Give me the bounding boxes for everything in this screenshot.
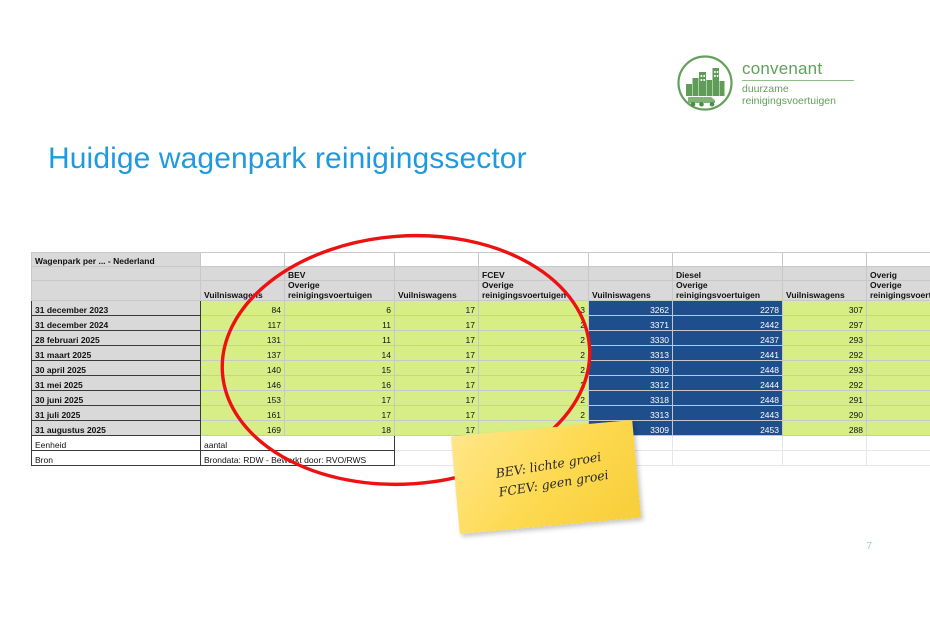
cell-overig-ov: 9 <box>867 331 930 346</box>
cell-diesel-vw: 3262 <box>589 301 673 316</box>
footer-value: Brondata: RDW - Bewerkt door: RVO/RWS <box>201 451 395 466</box>
cell-bev-vw: 169 <box>201 421 285 436</box>
cell-bev-vw: 131 <box>201 331 285 346</box>
table-subheader-row: Vuilniswagens Overigereinigingsvoertuige… <box>32 281 930 301</box>
cell-bev-ov: 11 <box>285 331 395 346</box>
cell-fcev-vw: 17 <box>395 316 479 331</box>
cell-bev-ov: 17 <box>285 406 395 421</box>
cell-diesel-ov: 2278 <box>673 301 783 316</box>
cell-bev-vw: 140 <box>201 361 285 376</box>
footer-empty-cell <box>783 436 867 451</box>
cell-overig-vw: 292 <box>783 346 867 361</box>
cell-overig-vw: 297 <box>783 316 867 331</box>
table-row: 31 december 2023846173326222783078 <box>32 301 930 316</box>
row-date-label: 30 juni 2025 <box>32 391 201 406</box>
cell-fcev-vw: 17 <box>395 361 479 376</box>
cell-overig-ov: 8 <box>867 301 930 316</box>
row-date-label: 31 mei 2025 <box>32 376 201 391</box>
cell-bev-vw: 137 <box>201 346 285 361</box>
table-group-header-row: BEV FCEV Diesel Overig <box>32 267 930 281</box>
cell-diesel-vw: 3371 <box>589 316 673 331</box>
subheader-line2: reinigingsvoertuigen <box>288 290 372 300</box>
sticky-note-text: BEV: lichte groei FCEV: geen groei <box>481 446 611 508</box>
group-row-stub <box>32 267 201 281</box>
group-spacer-diesel <box>589 267 673 281</box>
cell-fcev-vw: 17 <box>395 331 479 346</box>
corner-spacer-1 <box>201 253 285 267</box>
footer-label: Eenheid <box>32 436 201 451</box>
cell-overig-vw: 288 <box>783 421 867 436</box>
table-row: 31 december 202411711172337124422979 <box>32 316 930 331</box>
group-header-overig: Overig <box>867 267 930 281</box>
subheader-line2: reinigingsvoertuigen <box>482 290 566 300</box>
cell-fcev-ov: 2 <box>479 406 589 421</box>
cell-diesel-ov: 2448 <box>673 391 783 406</box>
row-date-label: 31 maart 2025 <box>32 346 201 361</box>
cell-diesel-ov: 2453 <box>673 421 783 436</box>
footer-empty-cell <box>783 451 867 466</box>
cell-overig-ov: 9 <box>867 361 930 376</box>
cell-bev-vw: 161 <box>201 406 285 421</box>
subheader-bev-overige: Overigereinigingsvoertuigen <box>285 281 395 301</box>
cell-fcev-vw: 17 <box>395 346 479 361</box>
cell-overig-ov: 8 <box>867 376 930 391</box>
row-date-label: 31 augustus 2025 <box>32 421 201 436</box>
logo-title: convenant <box>742 60 854 77</box>
subheader-fcev-overige: Overigereinigingsvoertuigen <box>479 281 589 301</box>
cell-diesel-ov: 2442 <box>673 316 783 331</box>
logo-wordmark: convenant duurzame reinigingsvoertuigen <box>742 58 854 108</box>
cell-overig-ov: 8 <box>867 391 930 406</box>
cell-bev-ov: 11 <box>285 316 395 331</box>
footer-value: aantal <box>201 436 395 451</box>
subheader-fcev-vuilniswagens: Vuilniswagens <box>395 281 479 301</box>
cell-fcev-ov: 2 <box>479 331 589 346</box>
cell-diesel-vw: 3330 <box>589 331 673 346</box>
slide-canvas: convenant duurzame reinigingsvoertuigen … <box>0 0 930 620</box>
corner-spacer-5 <box>589 253 673 267</box>
cell-overig-ov: 8 <box>867 421 930 436</box>
fleet-table-container: Wagenpark per ... - Nederland BEV <box>31 252 899 466</box>
row-date-label: 28 februari 2025 <box>32 331 201 346</box>
convenant-logo: convenant duurzame reinigingsvoertuigen <box>676 52 846 114</box>
table-corner-row: Wagenpark per ... - Nederland <box>32 253 930 267</box>
table-row: 30 juni 202515317172331824482918 <box>32 391 930 406</box>
footer-empty-cell <box>867 436 930 451</box>
cell-fcev-vw: 17 <box>395 421 479 436</box>
cell-overig-ov: 9 <box>867 316 930 331</box>
group-spacer-overig <box>783 267 867 281</box>
cell-bev-ov: 17 <box>285 391 395 406</box>
subheader-diesel-vuilniswagens: Vuilniswagens <box>589 281 673 301</box>
table-row: 31 juli 202516117172331324432908 <box>32 406 930 421</box>
cell-diesel-ov: 2437 <box>673 331 783 346</box>
cell-diesel-ov: 2448 <box>673 361 783 376</box>
row-date-label: 31 juli 2025 <box>32 406 201 421</box>
corner-spacer-3 <box>395 253 479 267</box>
page-title: Huidige wagenpark reinigingssector <box>48 142 527 176</box>
footer-empty-cell <box>867 451 930 466</box>
group-header-diesel: Diesel <box>673 267 783 281</box>
corner-spacer-4 <box>479 253 589 267</box>
row-date-label: 31 december 2023 <box>32 301 201 316</box>
cell-overig-vw: 291 <box>783 391 867 406</box>
subheader-bev-vuilniswagens: Vuilniswagens <box>201 281 285 301</box>
group-spacer-fcev <box>395 267 479 281</box>
cell-diesel-ov: 2444 <box>673 376 783 391</box>
cell-fcev-vw: 17 <box>395 406 479 421</box>
cell-overig-vw: 293 <box>783 361 867 376</box>
cell-bev-ov: 14 <box>285 346 395 361</box>
row-date-label: 30 april 2025 <box>32 361 201 376</box>
cell-bev-ov: 18 <box>285 421 395 436</box>
cell-bev-vw: 84 <box>201 301 285 316</box>
cell-overig-vw: 293 <box>783 331 867 346</box>
cell-overig-vw: 290 <box>783 406 867 421</box>
table-row: 30 april 202514015172330924482939 <box>32 361 930 376</box>
corner-spacer-2 <box>285 253 395 267</box>
cell-overig-vw: 292 <box>783 376 867 391</box>
cell-bev-vw: 117 <box>201 316 285 331</box>
cell-fcev-ov: 2 <box>479 391 589 406</box>
cell-fcev-vw: 17 <box>395 391 479 406</box>
cell-bev-vw: 146 <box>201 376 285 391</box>
cell-fcev-ov: 2 <box>479 376 589 391</box>
cell-bev-vw: 153 <box>201 391 285 406</box>
footer-label: Bron <box>32 451 201 466</box>
convenant-city-truck-emblem-icon <box>676 54 734 112</box>
table-row: 31 mei 202514616172331224442928 <box>32 376 930 391</box>
subheader-diesel-overige: Overigereinigingsvoertuigen <box>673 281 783 301</box>
cell-overig-ov: 9 <box>867 346 930 361</box>
logo-divider <box>742 80 854 81</box>
footer-empty-cell <box>673 436 783 451</box>
cell-fcev-ov: 2 <box>479 361 589 376</box>
page-number: 7 <box>866 541 872 552</box>
cell-diesel-vw: 3313 <box>589 346 673 361</box>
sticky-note: BEV: lichte groei FCEV: geen groei <box>451 420 641 534</box>
cell-diesel-vw: 3313 <box>589 406 673 421</box>
table-corner-label: Wagenpark per ... - Nederland <box>32 253 201 267</box>
corner-spacer-8 <box>867 253 930 267</box>
cell-fcev-ov: 2 <box>479 316 589 331</box>
logo-subtitle-line2: reinigingsvoertuigen <box>742 96 854 108</box>
corner-spacer-7 <box>783 253 867 267</box>
cell-diesel-vw: 3312 <box>589 376 673 391</box>
cell-fcev-ov: 2 <box>479 346 589 361</box>
cell-overig-vw: 307 <box>783 301 867 316</box>
subheader-overig-vuilniswagens: Vuilniswagens <box>783 281 867 301</box>
cell-diesel-vw: 3309 <box>589 361 673 376</box>
cell-overig-ov: 8 <box>867 406 930 421</box>
group-spacer-bev <box>201 267 285 281</box>
cell-diesel-vw: 3318 <box>589 391 673 406</box>
table-row: 28 februari 202513111172333024372939 <box>32 331 930 346</box>
subheader-line2: reinigingsvoertuigen <box>870 290 930 300</box>
corner-spacer-6 <box>673 253 783 267</box>
table-row: 31 maart 202513714172331324412929 <box>32 346 930 361</box>
subheader-stub <box>32 281 201 301</box>
cell-bev-ov: 16 <box>285 376 395 391</box>
cell-diesel-ov: 2441 <box>673 346 783 361</box>
group-header-bev: BEV <box>285 267 395 281</box>
cell-bev-ov: 6 <box>285 301 395 316</box>
subheader-overig-overige: Overigereinigingsvoertuigen <box>867 281 930 301</box>
table-data-body: 31 december 202384617332622278307831 dec… <box>32 301 930 436</box>
cell-fcev-vw: 17 <box>395 376 479 391</box>
group-header-fcev: FCEV <box>479 267 589 281</box>
row-date-label: 31 december 2024 <box>32 316 201 331</box>
logo-subtitle: duurzame reinigingsvoertuigen <box>742 84 854 108</box>
footer-empty-cell <box>673 451 783 466</box>
cell-diesel-ov: 2443 <box>673 406 783 421</box>
subheader-line2: reinigingsvoertuigen <box>676 290 760 300</box>
cell-bev-ov: 15 <box>285 361 395 376</box>
cell-fcev-vw: 17 <box>395 301 479 316</box>
cell-fcev-ov: 3 <box>479 301 589 316</box>
